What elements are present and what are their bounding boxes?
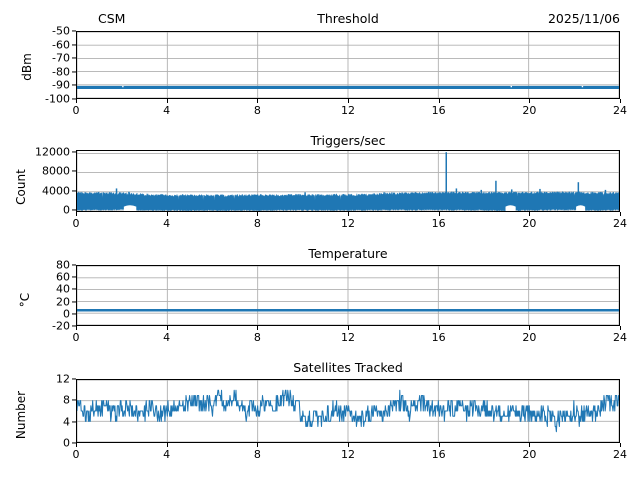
x-tick-label: 24 [613,218,627,229]
y-tick-label: 4000 [16,185,70,196]
figure-header: CSM Threshold 2025/11/06 [76,8,620,28]
x-tick-label: 24 [613,449,627,460]
x-tick-label: 16 [432,105,446,116]
x-tick-mark [620,212,621,216]
data-dropout [124,205,136,211]
y-tick-mark [72,264,76,265]
y-tick-mark [72,44,76,45]
x-tick-label: 4 [163,105,170,116]
plot-triggers [77,151,619,211]
y-tick-mark [72,400,76,401]
x-tick-label: 12 [341,105,355,116]
x-tick-label: 8 [254,218,261,229]
y-tick-label: 0 [16,308,70,319]
x-tick-label: 16 [432,218,446,229]
x-tick-mark [620,99,621,103]
x-tick-label: 24 [613,105,627,116]
data-dropout [506,205,516,211]
x-tick-label: 20 [522,218,536,229]
x-tick-label: 8 [254,332,261,343]
x-tick-label: 20 [522,332,536,343]
data-dropout [511,86,512,87]
y-tick-mark [72,85,76,86]
y-tick-label: 12 [16,374,70,385]
x-tick-label: 12 [341,218,355,229]
x-tick-label: 0 [73,332,80,343]
y-tick-mark [72,190,76,191]
y-tick-mark [72,98,76,99]
y-tick-label: -70 [16,53,70,64]
plot-area-temperature [76,265,620,326]
y-tick-label: 8 [16,395,70,406]
plot-area-threshold [76,31,620,99]
x-tick-label: 4 [163,332,170,343]
x-tick-label: 12 [341,449,355,460]
y-tick-mark [72,325,76,326]
y-tick-label: 8000 [16,166,70,177]
y-tick-label: -60 [16,39,70,50]
y-tick-label: -50 [16,26,70,37]
y-tick-mark [72,58,76,59]
y-tick-mark [72,30,76,31]
x-tick-labels-threshold: 04812162024 [76,101,620,117]
x-tick-label: 8 [254,105,261,116]
y-tick-label: -100 [16,94,70,105]
panel-title-triggers: Triggers/sec [76,133,620,148]
data-dropout [122,86,123,87]
x-tick-label: 0 [73,218,80,229]
y-tick-mark [72,289,76,290]
y-tick-label: -80 [16,66,70,77]
x-tick-labels-temperature: 04812162024 [76,328,620,344]
data-dropout [576,205,585,211]
x-tick-label: 24 [613,332,627,343]
x-tick-label: 16 [432,332,446,343]
x-tick-labels-satellites: 04812162024 [76,445,620,461]
y-tick-mark [72,301,76,302]
y-tick-mark [72,171,76,172]
y-tick-label: 80 [16,260,70,271]
y-tick-label: 0 [16,437,70,448]
x-tick-mark [620,326,621,330]
plot-satellites [77,380,619,442]
y-tick-label: 60 [16,272,70,283]
y-tick-mark [72,313,76,314]
y-tick-label: 12000 [16,147,70,158]
x-tick-label: 0 [73,449,80,460]
plot-threshold [77,32,619,98]
y-tick-label: 20 [16,296,70,307]
y-tick-mark [72,378,76,379]
x-tick-label: 4 [163,218,170,229]
y-tick-mark [72,442,76,443]
data-dropout [582,86,583,87]
y-tick-mark [72,71,76,72]
plot-area-satellites [76,379,620,443]
plot-area-triggers [76,150,620,212]
y-tick-mark [72,209,76,210]
y-tick-label: -90 [16,80,70,91]
y-tick-label: 0 [16,204,70,215]
x-tick-label: 16 [432,449,446,460]
y-tick-label: 40 [16,284,70,295]
x-tick-label: 4 [163,449,170,460]
x-tick-mark [620,443,621,447]
x-tick-label: 20 [522,105,536,116]
x-tick-label: 20 [522,449,536,460]
y-tick-mark [72,151,76,152]
y-tick-mark [72,277,76,278]
figure-canvas: CSM Threshold 2025/11/06 dBm -50 -60 -70… [0,0,640,480]
x-tick-label: 12 [341,332,355,343]
x-tick-label: 0 [73,105,80,116]
plot-temperature [77,266,619,325]
x-tick-label: 8 [254,449,261,460]
y-tick-mark [72,421,76,422]
y-tick-label: -20 [16,321,70,332]
panel-title-temperature: Temperature [76,246,620,261]
panel-title-threshold: Threshold [76,11,620,26]
y-tick-label: 4 [16,416,70,427]
x-tick-labels-triggers: 04812162024 [76,214,620,230]
panel-title-satellites: Satellites Tracked [76,360,620,375]
